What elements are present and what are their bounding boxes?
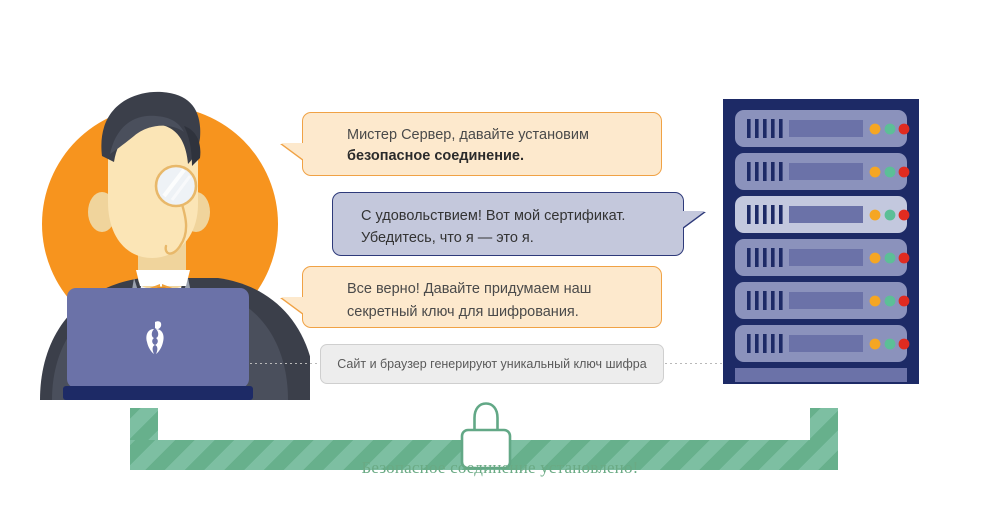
bubble-tail-left <box>281 297 304 314</box>
bubble2-line1: С удовольствием! Вот мой сертификат. <box>361 208 625 224</box>
infographic-canvas: Мистер Сервер, давайте установим безопас… <box>0 0 1000 523</box>
server-unit-2 <box>735 153 909 190</box>
connector-dots-right <box>660 363 724 365</box>
bubble-tail-right <box>682 211 705 228</box>
bubble-text: С удовольствием! Вот мой сертификат.Убед… <box>361 205 683 249</box>
server-unit-3 <box>735 196 909 233</box>
caption-secure-connection-established: Безопасное соединение установлено! <box>0 458 1000 478</box>
bubble-text: Все верно! Давайте придумаем нашсекретны… <box>347 278 661 324</box>
shared-key-note-box: Сайт и браузер генерируют уникальный клю… <box>320 344 664 384</box>
laptop-base <box>63 386 253 400</box>
speech-bubble-server-certificate: С удовольствием! Вот мой сертификат.Убед… <box>332 192 684 256</box>
server-unit-4 <box>735 239 909 276</box>
connector-dots-left <box>250 363 322 365</box>
speech-bubble-client-key-exchange: Все верно! Давайте придумаем нашсекретны… <box>302 266 662 328</box>
server-unit-5 <box>735 282 909 319</box>
monocle <box>156 166 196 206</box>
server-rack-illustration <box>723 99 919 384</box>
shared-key-note-text: Сайт и браузер генерируют уникальный клю… <box>337 357 646 371</box>
server-unit-6 <box>735 325 909 362</box>
bubble-text: Мистер Сервер, давайте установим безопас… <box>347 125 661 167</box>
bubble2-line2: Убедитесь, что я — это я. <box>361 230 534 246</box>
laptop <box>63 288 253 400</box>
server-unit-1 <box>735 110 909 147</box>
bubble-tail-left <box>281 143 304 160</box>
bubble3-line2: секретный ключ для шифрования. <box>347 304 579 320</box>
speech-bubble-client-request: Мистер Сервер, давайте установим безопас… <box>302 112 662 176</box>
bubble1-line1: Мистер Сервер, давайте установим <box>347 127 589 143</box>
bubble1-line2-bold: безопасное соединение. <box>347 148 524 164</box>
bubble3-line1: Все верно! Давайте придумаем наш <box>347 281 591 297</box>
rack-base-bar <box>735 368 907 382</box>
